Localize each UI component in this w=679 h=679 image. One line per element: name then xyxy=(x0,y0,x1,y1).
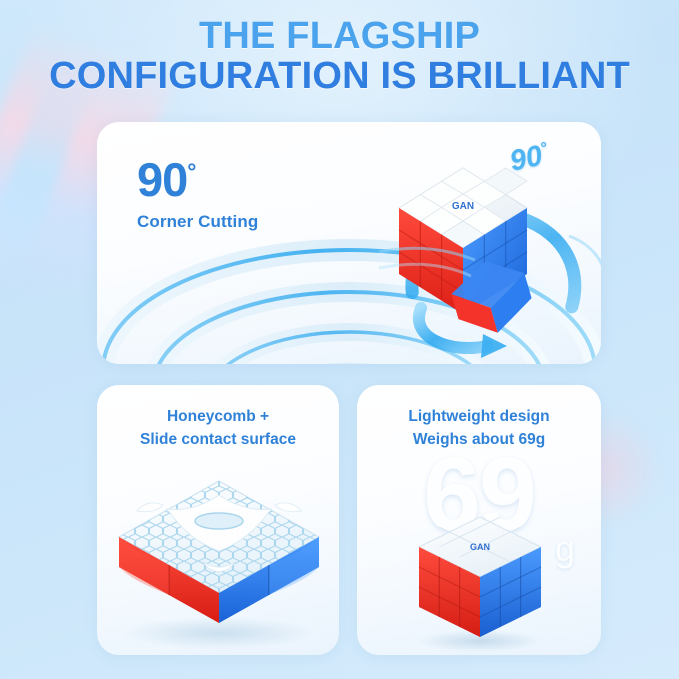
weight-unit-graphic: g xyxy=(555,531,575,567)
small-speed-cube-illustration: GAN xyxy=(413,511,548,651)
card-corner-cutting: 90° Corner Cutting 90° xyxy=(97,122,601,364)
honeycomb-title-line-2: Slide contact surface xyxy=(97,428,339,451)
lightweight-illustration: 69 g xyxy=(357,443,601,655)
speed-cube-illustration: GAN xyxy=(379,132,601,362)
cube-logo-top: GAN xyxy=(452,201,474,212)
card-honeycomb: Honeycomb + Slide contact surface xyxy=(97,385,339,655)
card-lightweight: Lightweight design Weighs about 69g 69 g xyxy=(357,385,601,655)
cube-logo-small: GAN xyxy=(470,542,490,552)
lightweight-title-line-1: Lightweight design xyxy=(357,405,601,428)
headline-line-1: THE FLAGSHIP xyxy=(0,16,679,56)
honeycomb-title-line-1: Honeycomb + xyxy=(97,405,339,428)
corner-cutting-subtitle: Corner Cutting xyxy=(137,212,258,232)
corner-cutting-degree: 90° xyxy=(137,156,258,203)
page-title: THE FLAGSHIP CONFIGURATION IS BRILLIANT xyxy=(0,16,679,97)
lightweight-title: Lightweight design Weighs about 69g xyxy=(357,405,601,452)
corner-cutting-degree-value: 90 xyxy=(137,153,187,206)
honeycomb-piece-illustration xyxy=(107,465,329,650)
lightweight-title-line-2: Weighs about 69g xyxy=(357,428,601,451)
light-streak-secondary-decor xyxy=(0,69,92,301)
honeycomb-title: Honeycomb + Slide contact surface xyxy=(97,405,339,452)
headline-line-2: CONFIGURATION IS BRILLIANT xyxy=(0,56,679,96)
infographic-stage: THE FLAGSHIP CONFIGURATION IS BRILLIANT xyxy=(0,0,679,679)
corner-cutting-label: 90° Corner Cutting xyxy=(137,156,258,232)
corner-cutting-degree-symbol: ° xyxy=(187,158,195,184)
